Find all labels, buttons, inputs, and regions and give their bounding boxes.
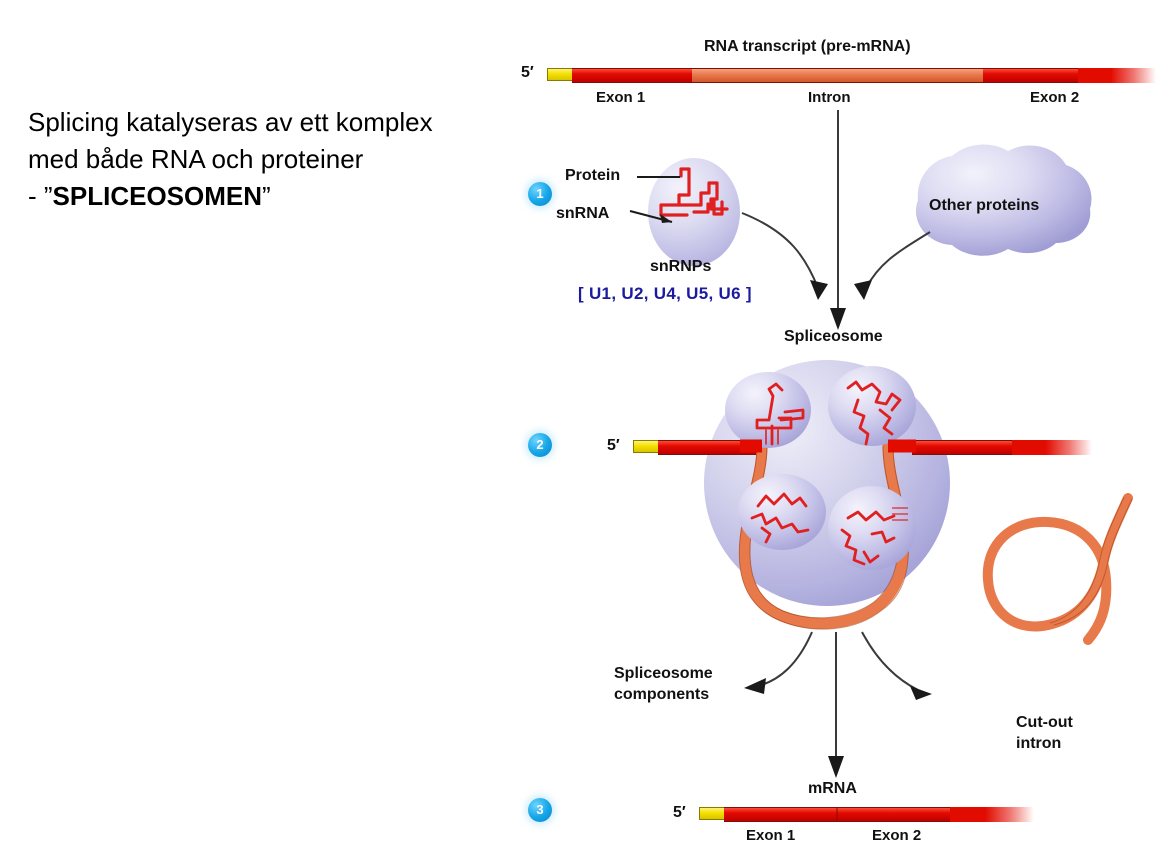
mrna-5prime-cap bbox=[699, 807, 725, 820]
mrna-exon1-label: Exon 1 bbox=[746, 827, 795, 844]
mrna-5prime-label: 5′ bbox=[673, 804, 686, 822]
mrna-exon2-label: Exon 2 bbox=[872, 827, 921, 844]
slide-canvas: Splicing katalyseras av ett komplex med … bbox=[0, 0, 1174, 868]
cutout-intron-label-line2: intron bbox=[1016, 735, 1061, 753]
cutout-intron-lariat bbox=[0, 0, 1174, 868]
mrna-title: mRNA bbox=[808, 780, 857, 798]
mrna-exon-junction bbox=[836, 807, 838, 820]
cutout-intron-label-line1: Cut-out bbox=[1016, 714, 1073, 732]
mrna-fade bbox=[950, 807, 1034, 822]
